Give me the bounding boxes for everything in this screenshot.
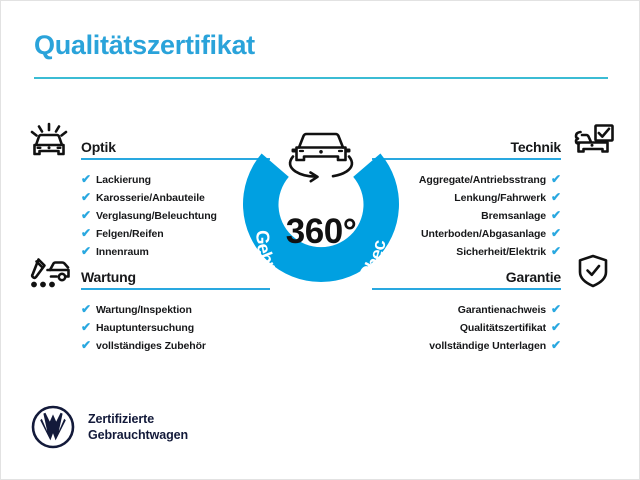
list-item-label: Felgen/Reifen (96, 228, 164, 240)
check-icon: ✔ (81, 226, 91, 240)
pen-car-icon (25, 251, 73, 291)
check-icon: ✔ (81, 338, 91, 352)
badge-360-gebrauchtwagen-check: Gebrauchtwagen-Check 360° (223, 113, 419, 309)
list-item-label: Qualitätszertifikat (460, 322, 546, 334)
check-icon: ✔ (551, 208, 561, 222)
checklist-garantie: Garantienachweis✔ Qualitätszertifikat✔ v… (376, 301, 623, 355)
footer: Zertifizierte Gebrauchtwagen (31, 405, 188, 449)
shield-check-icon (569, 251, 617, 291)
list-item-label: Unterboden/Abgasanlage (421, 228, 546, 240)
list-item-label: Hauptuntersuchung (96, 322, 194, 334)
check-icon: ✔ (551, 320, 561, 334)
list-item-label: vollständiges Zubehör (96, 340, 206, 352)
list-item: Qualitätszertifikat✔ (376, 319, 561, 337)
car-checkbox-icon (569, 121, 617, 161)
check-icon: ✔ (551, 172, 561, 186)
header: Qualitätszertifikat (34, 31, 608, 79)
footer-line-1: Zertifizierte (88, 411, 188, 427)
list-item: ✔Hauptuntersuchung (81, 319, 266, 337)
car-shine-icon (25, 121, 73, 161)
section-title-garantie: Garantie (506, 269, 561, 285)
list-item-label: Verglasung/Beleuchtung (96, 210, 217, 222)
check-icon: ✔ (81, 190, 91, 204)
checklist-wartung: ✔Wartung/Inspektion ✔Hauptuntersuchung ✔… (19, 301, 266, 355)
check-icon: ✔ (81, 172, 91, 186)
list-item-label: Aggregate/Antriebsstrang (419, 174, 546, 186)
check-icon: ✔ (81, 208, 91, 222)
list-item-label: Lenkung/Fahrwerk (454, 192, 546, 204)
list-item: vollständige Unterlagen✔ (376, 337, 561, 355)
list-item-label: Wartung/Inspektion (96, 304, 192, 316)
check-icon: ✔ (551, 338, 561, 352)
list-item-label: Lackierung (96, 174, 151, 186)
footer-line-2: Gebrauchtwagen (88, 427, 188, 443)
list-item-label: vollständige Unterlagen (429, 340, 546, 352)
list-item-label: Garantienachweis (458, 304, 546, 316)
list-item-label: Karosserie/Anbauteile (96, 192, 205, 204)
check-icon: ✔ (81, 320, 91, 334)
check-icon: ✔ (551, 226, 561, 240)
badge-center-label: 360° (286, 212, 356, 251)
car-rotate-icon (290, 134, 352, 181)
check-icon: ✔ (81, 302, 91, 316)
title-divider (34, 77, 608, 79)
check-icon: ✔ (551, 302, 561, 316)
section-title-optik: Optik (81, 139, 116, 155)
footer-text: Zertifizierte Gebrauchtwagen (88, 411, 188, 443)
vw-logo (31, 405, 75, 449)
list-item-label: Bremsanlage (481, 210, 546, 222)
page-title: Qualitätszertifikat (34, 31, 608, 61)
certificate-page: Qualitätszertifikat (0, 0, 640, 480)
section-title-wartung: Wartung (81, 269, 136, 285)
check-icon: ✔ (551, 190, 561, 204)
list-item: ✔vollständiges Zubehör (81, 337, 266, 355)
section-title-technik: Technik (511, 139, 561, 155)
